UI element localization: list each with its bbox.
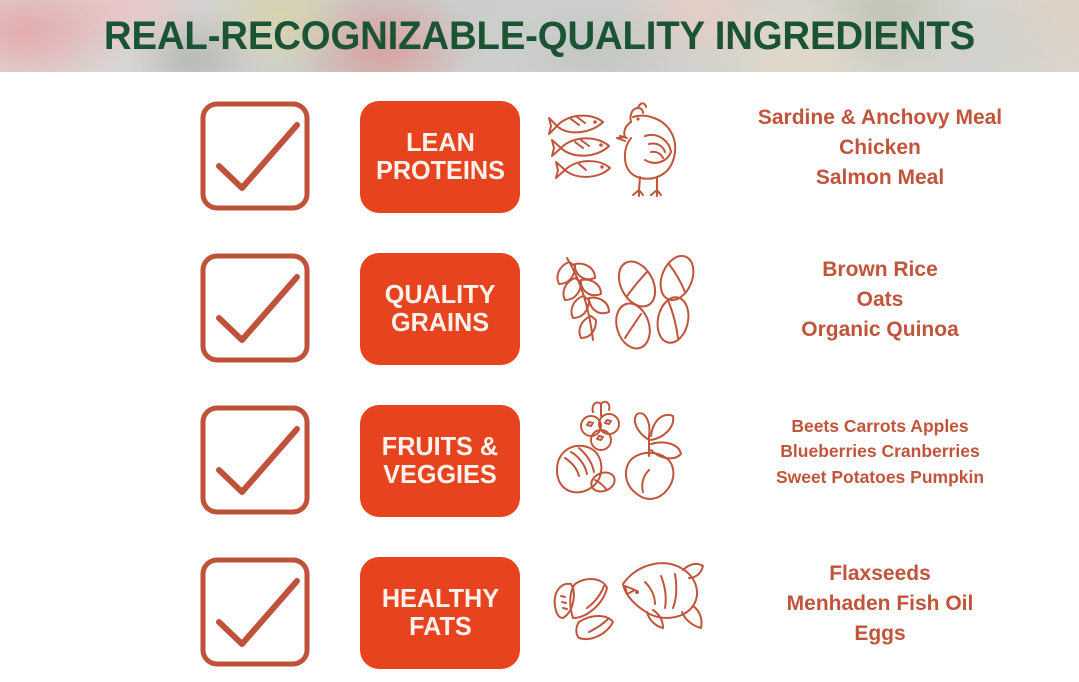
category-badge[interactable]: HEALTHY FATS bbox=[360, 557, 520, 669]
ingredient-list: Sardine & Anchovy Meal Chicken Salmon Me… bbox=[700, 72, 1060, 224]
category-badge-label: LEAN PROTEINS bbox=[376, 129, 505, 184]
ingredient-item: Sweet Potatoes Pumpkin bbox=[776, 465, 984, 490]
page-title: REAL-RECOGNIZABLE-QUALITY INGREDIENTS bbox=[22, 0, 1058, 72]
ingredients-infographic: REAL-RECOGNIZABLE-QUALITY INGREDIENTS LE… bbox=[0, 0, 1079, 682]
ingredient-list: Beets Carrots Apples Blueberries Cranber… bbox=[700, 376, 1060, 528]
ingredient-item: Flaxseeds bbox=[829, 559, 931, 589]
ingredient-item: Brown Rice bbox=[822, 255, 938, 285]
category-badge-label: QUALITY GRAINS bbox=[385, 281, 496, 336]
ingredient-item: Menhaden Fish Oil bbox=[787, 589, 974, 619]
ingredient-row: HEALTHY FATS bbox=[0, 528, 1079, 680]
category-badge[interactable]: LEAN PROTEINS bbox=[360, 101, 520, 213]
ingredient-row: FRUITS & VEGGIES bbox=[0, 376, 1079, 528]
checkbox-checked[interactable] bbox=[195, 92, 319, 216]
category-badge-label: HEALTHY FATS bbox=[381, 585, 498, 640]
category-badge[interactable]: FRUITS & VEGGIES bbox=[360, 405, 520, 517]
seeds-and-fish-icon bbox=[545, 542, 705, 666]
header-banner: REAL-RECOGNIZABLE-QUALITY INGREDIENTS bbox=[0, 0, 1079, 72]
ingredient-item: Organic Quinoa bbox=[801, 315, 959, 345]
ingredient-list: Flaxseeds Menhaden Fish Oil Eggs bbox=[700, 528, 1060, 680]
ingredient-item: Eggs bbox=[854, 619, 905, 649]
checkbox-checked[interactable] bbox=[195, 244, 319, 368]
sweet-potato-beet-berries-icon bbox=[545, 390, 705, 514]
fish-and-chicken-icon bbox=[545, 86, 705, 210]
ingredient-rows: LEAN PROTEINS bbox=[0, 72, 1079, 682]
grain-stalk-and-seeds-icon bbox=[545, 238, 705, 362]
ingredient-item: Blueberries Cranberries bbox=[780, 439, 979, 464]
checkbox-checked[interactable] bbox=[195, 548, 319, 672]
checkbox-checked[interactable] bbox=[195, 396, 319, 520]
ingredient-item: Salmon Meal bbox=[816, 163, 944, 193]
ingredient-item: Beets Carrots Apples bbox=[791, 414, 968, 439]
ingredient-item: Chicken bbox=[839, 133, 921, 163]
category-badge[interactable]: QUALITY GRAINS bbox=[360, 253, 520, 365]
ingredient-list: Brown Rice Oats Organic Quinoa bbox=[700, 224, 1060, 376]
ingredient-item: Sardine & Anchovy Meal bbox=[758, 103, 1002, 133]
ingredient-item: Oats bbox=[857, 285, 904, 315]
ingredient-row: LEAN PROTEINS bbox=[0, 72, 1079, 224]
category-badge-label: FRUITS & VEGGIES bbox=[382, 433, 498, 488]
ingredient-row: QUALITY GRAINS bbox=[0, 224, 1079, 376]
